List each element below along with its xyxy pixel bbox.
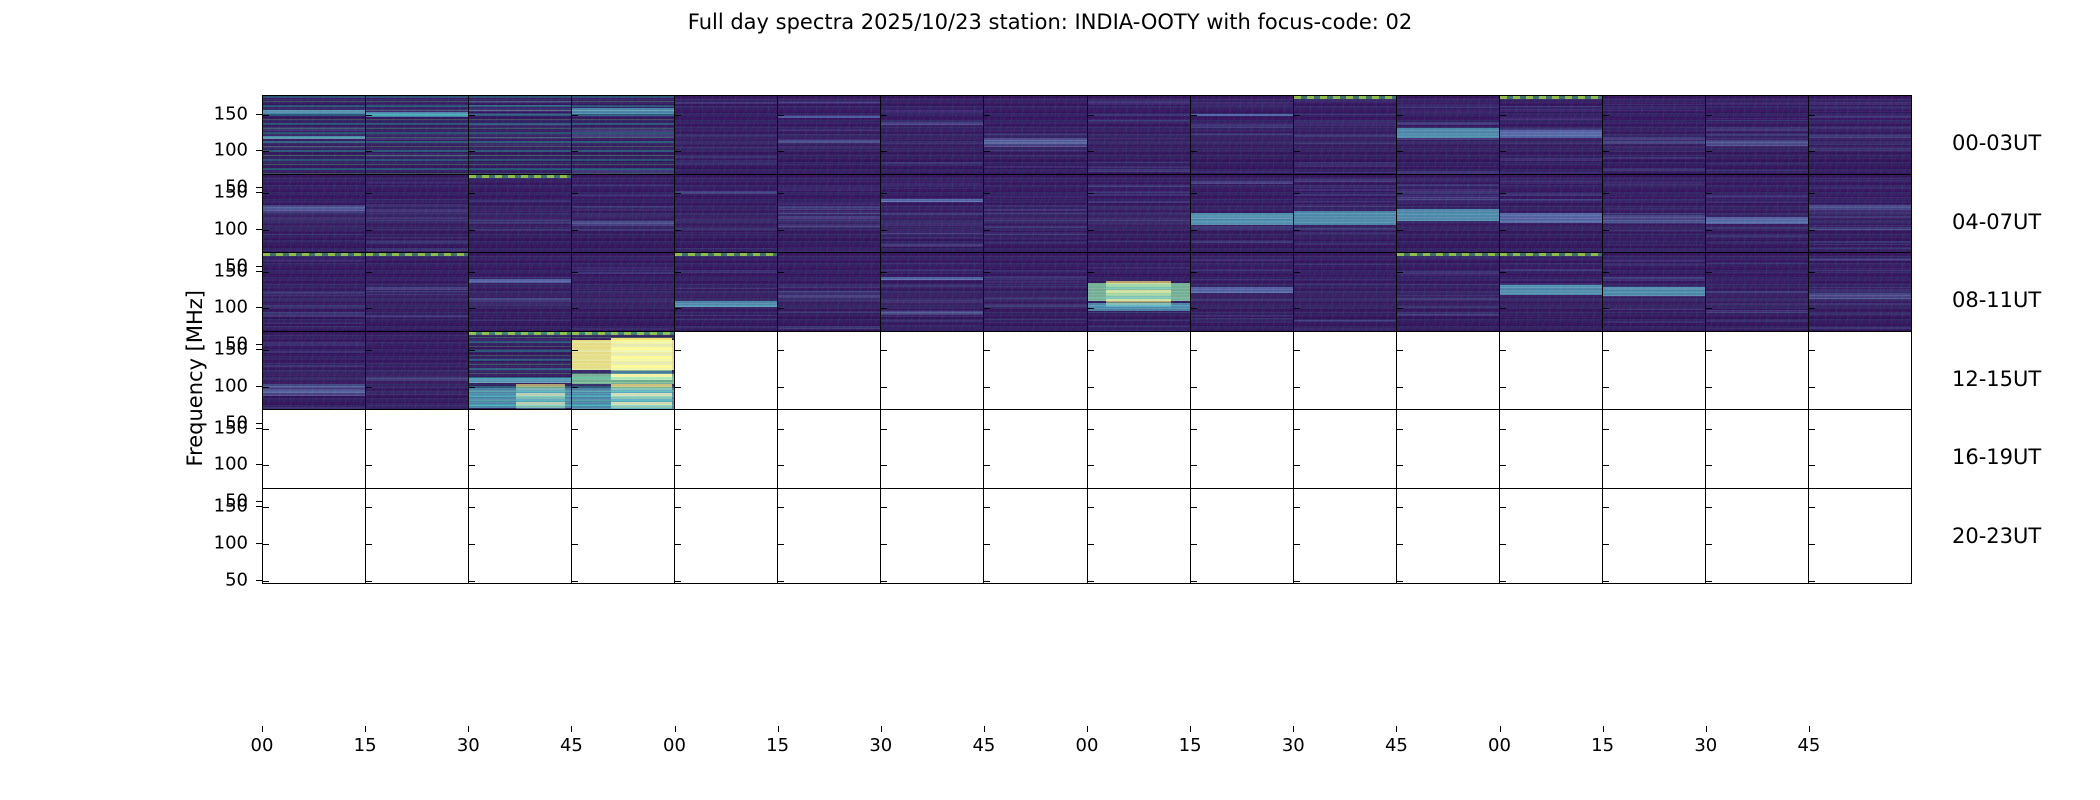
y-tick-mark: [1603, 350, 1609, 351]
y-tick-mark: [675, 581, 681, 582]
spectrogram-noise-line: [1706, 303, 1808, 305]
spectrogram-noise-line: [1603, 151, 1705, 152]
spectrogram-noise-line: [881, 183, 983, 185]
spectrogram-noise-line: [572, 289, 674, 291]
spectrogram-noise-line: [1397, 203, 1499, 204]
spectrogram-noise-line: [1809, 225, 1911, 227]
x-tick-label: 30: [869, 735, 892, 756]
spectrogram-noise-line: [778, 226, 880, 228]
spectrogram-noise-line: [263, 111, 365, 114]
y-tick-mark: [675, 350, 681, 351]
spectrogram-noise-line: [1706, 196, 1808, 198]
spectrogram-noise-line: [1191, 133, 1293, 135]
y-tick-mark: [1500, 350, 1506, 351]
spectrogram-noise-line: [984, 238, 1086, 240]
spectrogram-noise-line: [881, 269, 983, 271]
spectrogram-noise-line: [572, 124, 674, 125]
spectrogram-noise-line: [366, 291, 468, 292]
spectrogram-emission-band: [1809, 293, 1911, 299]
y-tick-mark: [572, 151, 578, 152]
spectrogram-emission-band: [1603, 215, 1705, 223]
y-tick-mark: [256, 229, 262, 230]
spectrogram-noise-line: [1809, 313, 1911, 315]
x-tick-label: 00: [1076, 735, 1099, 756]
spectrogram-noise-line: [1294, 198, 1396, 199]
spectrogram-noise-line: [572, 229, 674, 230]
spectrogram-noise-line: [572, 273, 674, 274]
y-tick-mark: [263, 387, 269, 388]
spectrogram-noise-line: [1603, 168, 1705, 171]
spectrogram-noise-line: [1191, 240, 1293, 242]
spectrogram-noise-line: [1706, 145, 1808, 147]
y-tick-mark: [1191, 387, 1197, 388]
spectrogram-noise-line: [263, 188, 365, 189]
spectrogram-noise-line: [675, 102, 777, 104]
spectrogram-noise-line: [1809, 197, 1911, 198]
row-time-label: 00-03UT: [1952, 131, 2041, 155]
y-tick-mark: [263, 115, 269, 116]
spectrogram-noise-line: [1603, 309, 1705, 310]
spectrogram-noise-line: [1191, 299, 1293, 301]
spectrogram-noise-line: [1706, 310, 1808, 313]
spectrogram-panel: [1500, 489, 1603, 583]
spectrogram-noise-line: [984, 297, 1086, 299]
y-tick-mark: [1500, 429, 1506, 430]
spectrogram-noise-line: [1500, 158, 1602, 161]
y-tick-mark: [469, 115, 475, 116]
y-tick-mark: [1603, 544, 1609, 545]
spectrogram-noise-line: [1191, 279, 1293, 280]
spectrogram-noise-line: [984, 133, 1086, 135]
spectrogram-noise-line: [469, 124, 571, 126]
y-tick-label: 150: [0, 417, 248, 438]
spectrogram-noise-line: [1191, 180, 1293, 182]
spectrogram-noise-line: [881, 223, 983, 224]
y-tick-mark: [778, 507, 784, 508]
spectrogram-noise-line: [1809, 216, 1911, 218]
y-tick-mark: [469, 429, 475, 430]
spectrogram-noise-line: [778, 129, 880, 130]
y-tick-mark: [572, 581, 578, 582]
y-tick-mark: [572, 429, 578, 430]
spectrogram-noise-line: [1088, 120, 1190, 121]
x-tick-label: 30: [1282, 735, 1305, 756]
x-tick-mark: [1500, 726, 1501, 732]
spectrogram-noise-line: [366, 160, 468, 162]
spectrogram-noise-line: [1706, 134, 1808, 136]
spectrogram-emission-band: [1500, 213, 1602, 223]
spectrogram-noise-line: [1603, 264, 1705, 267]
x-tick-label: 45: [560, 735, 583, 756]
spectrogram-noise-line: [1603, 277, 1705, 279]
y-tick-label: 100: [0, 375, 248, 396]
spectrogram-noise-line: [778, 290, 880, 293]
y-tick-mark: [984, 387, 990, 388]
spectrogram-noise-line: [1500, 117, 1602, 120]
y-tick-mark: [1088, 387, 1094, 388]
x-tick-label: 00: [251, 735, 274, 756]
spectrogram-noise-line: [1294, 185, 1396, 188]
y-tick-mark: [256, 501, 262, 502]
y-tick-mark: [1088, 115, 1094, 116]
y-tick-mark: [1500, 581, 1506, 582]
y-tick-mark: [1191, 193, 1197, 194]
spectrogram-top-band: [1397, 253, 1499, 256]
spectrogram-noise-line: [1603, 244, 1705, 247]
spectrogram-noise-line: [1191, 199, 1293, 200]
spectrogram-noise-line: [1706, 262, 1808, 264]
y-tick-mark: [572, 308, 578, 309]
y-tick-mark: [1191, 230, 1197, 231]
spectrogram-noise-line: [572, 137, 674, 138]
x-tick-mark: [365, 726, 366, 732]
y-tick-mark: [256, 150, 262, 151]
spectrogram-noise-line: [1191, 104, 1293, 106]
y-tick-mark: [675, 465, 681, 466]
spectrogram-panel: [1191, 489, 1294, 583]
spectrogram-noise-line: [263, 146, 365, 148]
y-tick-mark: [469, 387, 475, 388]
spectrogram-noise-line: [1500, 317, 1602, 318]
y-tick-mark: [1809, 429, 1815, 430]
y-tick-mark: [1088, 544, 1094, 545]
spectrogram-noise-line: [1706, 120, 1808, 121]
y-tick-mark: [675, 387, 681, 388]
spectrogram-noise-line: [469, 298, 571, 299]
y-tick-mark: [256, 423, 262, 424]
y-tick-mark: [1706, 308, 1712, 309]
y-tick-mark: [1706, 387, 1712, 388]
spectrogram-noise-line: [1294, 120, 1396, 122]
spectrogram-noise-line: [984, 155, 1086, 157]
y-tick-mark: [881, 507, 887, 508]
y-tick-mark: [1603, 230, 1609, 231]
y-tick-mark: [1809, 581, 1815, 582]
x-axis: 00153045001530450015304500153045: [262, 726, 1912, 766]
x-tick-label: 15: [766, 735, 789, 756]
spectrogram-noise-line: [1603, 260, 1705, 261]
y-tick-mark: [1088, 429, 1094, 430]
spectrogram-noise-line: [572, 170, 674, 173]
spectrogram-noise-line: [984, 226, 1086, 228]
y-tick-mark: [881, 151, 887, 152]
y-tick-mark: [1294, 272, 1300, 273]
spectrogram-noise-line: [1088, 169, 1190, 172]
spectrogram-noise-line: [469, 105, 571, 106]
y-tick-mark: [1500, 308, 1506, 309]
spectrogram-top-band: [1500, 96, 1602, 99]
y-tick-mark: [1191, 507, 1197, 508]
y-tick-mark: [1603, 387, 1609, 388]
spectrogram-noise-line: [1397, 184, 1499, 186]
y-tick-mark: [1088, 581, 1094, 582]
y-tick-mark: [1706, 272, 1712, 273]
row-time-label: 16-19UT: [1952, 445, 2041, 469]
spectrogram-noise-line: [1603, 157, 1705, 158]
spectrogram-emission-band: [1294, 211, 1396, 225]
spectrogram-noise-line: [1088, 184, 1190, 187]
y-tick-mark: [1603, 272, 1609, 273]
spectrogram-top-band: [572, 332, 674, 335]
spectrogram-noise-line: [1500, 269, 1602, 271]
spectrogram-noise-line: [469, 317, 571, 318]
y-tick-mark: [572, 115, 578, 116]
spectrogram-noise-line: [675, 135, 777, 138]
x-tick-label: 30: [1694, 735, 1717, 756]
y-tick-mark: [1294, 115, 1300, 116]
y-tick-mark: [256, 464, 262, 465]
spectrogram-noise-line: [881, 285, 983, 287]
spectrogram-noise-line: [263, 161, 365, 163]
y-tick-mark: [1397, 387, 1403, 388]
spectrogram-noise-line: [366, 316, 468, 318]
y-tick-mark: [366, 581, 372, 582]
y-tick-mark: [1809, 387, 1815, 388]
spectrogram-noise-line: [1809, 115, 1911, 118]
spectrogram-noise-line: [675, 147, 777, 148]
y-tick-mark: [1603, 507, 1609, 508]
y-tick-mark: [263, 465, 269, 466]
spectrogram-noise-line: [1191, 318, 1293, 320]
spectrogram-noise-line: [1603, 108, 1705, 110]
spectrogram-noise-line: [263, 307, 365, 309]
y-tick-label: 100: [0, 532, 248, 553]
spectrogram-noise-line: [572, 269, 674, 271]
y-tick-mark: [1191, 115, 1197, 116]
spectrogram-noise-line: [1809, 147, 1911, 149]
spectrogram-noise-line: [1294, 243, 1396, 246]
spectrogram-noise-line: [1294, 194, 1396, 196]
spectrogram-noise-line: [1706, 103, 1808, 105]
spectrogram-noise-line: [572, 103, 674, 104]
y-tick-mark: [778, 387, 784, 388]
y-tick-mark: [1706, 581, 1712, 582]
y-tick-mark: [1294, 544, 1300, 545]
spectrogram-noise-line: [1294, 135, 1396, 137]
x-tick-label: 45: [1797, 735, 1820, 756]
spectrogram-noise-line: [778, 187, 880, 188]
spectrogram-noise-line: [1191, 216, 1293, 218]
spectrogram-noise-line: [263, 351, 365, 352]
spectrogram-noise-line: [1294, 133, 1396, 134]
spectrogram-noise-line: [1603, 208, 1705, 209]
y-tick-mark: [1294, 193, 1300, 194]
spectrogram-noise-line: [1809, 303, 1911, 306]
spectrogram-noise-line: [1088, 138, 1190, 139]
y-tick-mark: [984, 465, 990, 466]
spectrogram-noise-line: [1706, 118, 1808, 119]
spectrogram-noise-line: [1088, 312, 1190, 313]
y-tick-mark: [984, 581, 990, 582]
y-tick-mark: [675, 429, 681, 430]
spectrogram-noise-line: [572, 184, 674, 186]
spectrogram-top-band: [469, 332, 571, 335]
y-tick-mark: [1397, 193, 1403, 194]
spectrogram-noise-line: [1500, 132, 1602, 134]
y-tick-mark: [984, 272, 990, 273]
y-tick-mark: [263, 272, 269, 273]
spectrogram-noise-line: [469, 113, 571, 115]
spectrogram-noise-line: [1294, 100, 1396, 102]
y-tick-mark: [256, 114, 262, 115]
y-tick-mark: [1294, 387, 1300, 388]
y-tick-mark: [256, 271, 262, 272]
spectrogram-noise-line: [675, 232, 777, 234]
y-tick-mark: [1706, 350, 1712, 351]
spectrogram-noise-line: [1397, 179, 1499, 181]
spectrogram-noise-line: [1500, 263, 1602, 264]
spectrogram-noise-line: [1706, 170, 1808, 172]
spectrogram-noise-line: [1809, 268, 1911, 271]
spectrogram-noise-line: [366, 310, 468, 311]
y-tick-mark: [1809, 507, 1815, 508]
y-tick-mark: [366, 272, 372, 273]
row-time-label: 08-11UT: [1952, 288, 2041, 312]
row-time-label: 12-15UT: [1952, 367, 2041, 391]
spectrogram-panel: [1397, 489, 1500, 583]
spectrogram-noise-line: [1088, 191, 1190, 193]
spectrogram-noise-line: [1809, 210, 1911, 213]
y-tick-mark: [881, 308, 887, 309]
spectrogram-noise-line: [675, 326, 777, 327]
y-tick-mark: [1603, 429, 1609, 430]
y-tick-mark: [263, 308, 269, 309]
y-tick-mark: [984, 308, 990, 309]
spectrogram-noise-line: [469, 110, 571, 112]
spectrogram-noise-line: [1294, 114, 1396, 115]
spectrogram-noise-line: [366, 387, 468, 389]
spectrogram-noise-line: [675, 163, 777, 165]
spectrogram-noise-line: [366, 217, 468, 219]
spectrogram-noise-line: [984, 304, 1086, 306]
y-tick-mark: [366, 151, 372, 152]
x-tick-mark: [262, 726, 263, 732]
spectrogram-noise-line: [778, 102, 880, 104]
spectrogram-noise-line: [263, 352, 365, 353]
y-tick-mark: [469, 350, 475, 351]
y-tick-mark: [778, 308, 784, 309]
spectrogram-noise-line: [778, 207, 880, 210]
spectrogram-noise-line: [1500, 106, 1602, 108]
y-tick-mark: [1294, 350, 1300, 351]
spectrogram-noise-line: [366, 294, 468, 295]
spectrogram-noise-line: [1191, 114, 1293, 116]
spectrogram-noise-line: [984, 286, 1086, 288]
spectrogram-noise-line: [984, 218, 1086, 221]
spectrogram-panel: [572, 489, 675, 583]
y-tick-mark: [1500, 230, 1506, 231]
x-tick-mark: [1087, 726, 1088, 732]
spectrogram-noise-line: [572, 195, 674, 198]
spectrogram-noise-line: [1294, 189, 1396, 191]
spectrogram-noise-line: [263, 322, 365, 324]
spectrogram-noise-line: [1397, 107, 1499, 108]
y-tick-mark: [984, 544, 990, 545]
y-tick-mark: [469, 581, 475, 582]
spectrogram-noise-line: [1500, 143, 1602, 145]
y-tick-mark: [366, 429, 372, 430]
spectrogram-noise-line: [881, 237, 983, 239]
spectrogram-noise-line: [984, 232, 1086, 235]
spectrogram-noise-line: [469, 368, 571, 370]
spectrogram-noise-line: [1809, 327, 1911, 329]
y-tick-mark: [675, 115, 681, 116]
spectrogram-noise-line: [1294, 164, 1396, 167]
spectrogram-noise-line: [1809, 244, 1911, 245]
y-tick-mark: [675, 151, 681, 152]
spectrogram-noise-line: [366, 403, 468, 406]
spectrogram-panel: [1294, 489, 1397, 583]
spectrogram-noise-line: [366, 378, 468, 381]
spectrogram-noise-line: [1294, 283, 1396, 285]
spectrogram-noise-line: [366, 104, 468, 106]
spectrogram-emission-band: [1191, 287, 1293, 293]
spectrogram-noise-line: [778, 247, 880, 249]
spectrogram-noise-line: [881, 233, 983, 234]
spectrogram-noise-line: [984, 209, 1086, 211]
spectrogram-noise-line: [1397, 306, 1499, 308]
spectrogram-noise-line: [263, 231, 365, 232]
y-tick-mark: [1294, 581, 1300, 582]
spectrogram-noise-line: [263, 314, 365, 317]
spectrogram-noise-line: [1500, 279, 1602, 281]
y-tick-mark: [1603, 115, 1609, 116]
y-tick-mark: [778, 193, 784, 194]
y-tick-label: 150: [0, 103, 248, 124]
y-tick-mark: [881, 272, 887, 273]
y-tick-mark: [1397, 544, 1403, 545]
y-tick-mark: [984, 151, 990, 152]
spectrogram-noise-line: [1088, 207, 1190, 210]
spectrogram-noise-line: [1603, 141, 1705, 143]
spectrogram-noise-line: [778, 311, 880, 313]
spectrogram-noise-line: [1706, 328, 1808, 329]
y-tick-mark: [1088, 350, 1094, 351]
spectrogram-noise-line: [675, 248, 777, 250]
y-tick-mark: [881, 193, 887, 194]
y-tick-mark: [1294, 151, 1300, 152]
y-tick-mark: [1191, 350, 1197, 351]
y-tick-mark: [263, 193, 269, 194]
spectrogram-noise-line: [469, 101, 571, 103]
spectrogram-noise-line: [1500, 164, 1602, 166]
x-tick-mark: [1190, 726, 1191, 732]
spectrogram-noise-line: [366, 204, 468, 206]
spectrogram-noise-line: [984, 318, 1086, 320]
spectrogram-noise-line: [1397, 312, 1499, 315]
spectrogram-noise-line: [1603, 137, 1705, 140]
spectrogram-noise-line: [263, 390, 365, 393]
y-tick-mark: [881, 465, 887, 466]
spectrogram-noise-line: [1397, 274, 1499, 277]
spectrogram-noise-line: [1500, 199, 1602, 201]
spectrogram-noise-line: [1500, 110, 1602, 112]
spectrogram-noise-line: [1191, 221, 1293, 224]
x-tick-label: 30: [457, 735, 480, 756]
spectrogram-panel: [675, 489, 778, 583]
spectrogram-noise-line: [1397, 200, 1499, 201]
y-tick-mark: [469, 193, 475, 194]
spectrogram-noise-line: [1088, 103, 1190, 105]
spectrogram-noise-line: [263, 129, 365, 131]
y-tick-mark: [1809, 230, 1815, 231]
y-tick-mark: [366, 230, 372, 231]
spectrogram-noise-line: [1191, 269, 1293, 272]
spectrogram-panel: [778, 489, 881, 583]
spectrogram-noise-line: [1706, 281, 1808, 283]
spectrogram-top-band: [366, 253, 468, 256]
spectrogram-noise-line: [469, 165, 571, 166]
